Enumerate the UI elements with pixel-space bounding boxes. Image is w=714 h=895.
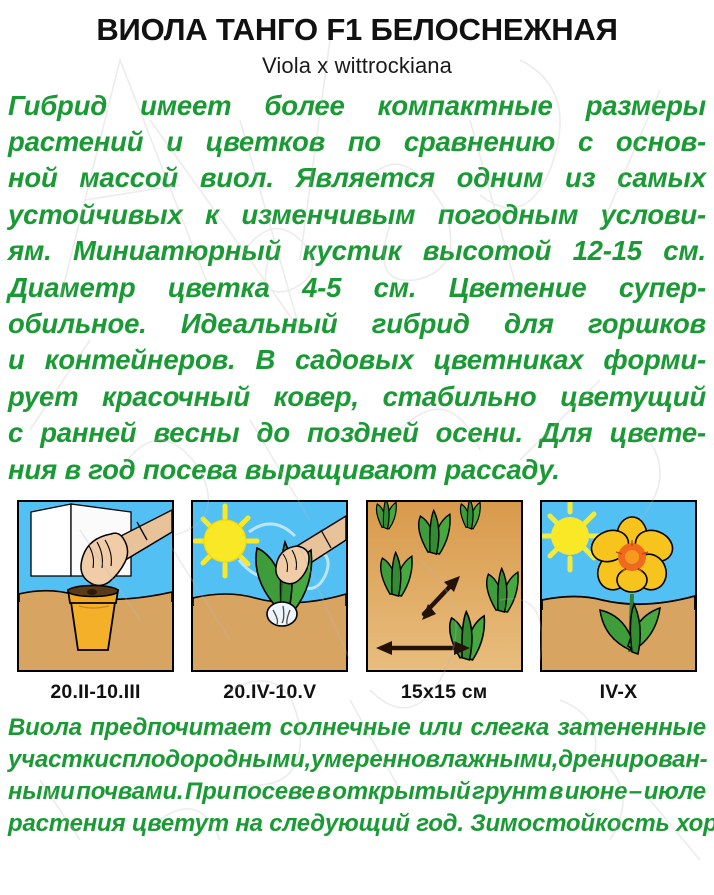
caption-spacer (174, 681, 191, 704)
panel-plant-spacing (366, 500, 523, 672)
caption-spacer (348, 681, 365, 704)
bottom-line: растения цветут на следующий год. Зимост… (8, 808, 706, 840)
caption-sowing: 20.II-10.III (17, 681, 174, 704)
description-line: ям.Миниатюрныйкустиквысотой12-15см. (8, 233, 706, 269)
description-line: обильное.Идеальныйгибриддлягоршков (8, 306, 706, 342)
description-line: устойчивыхкизменчивымпогоднымуслови- (8, 197, 706, 233)
description-line: ноймассойвиол.Являетсяоднимизсамых (8, 160, 706, 196)
panel-captions: 20.II-10.III 20.IV-10.V 15x15 см IV-X (0, 681, 714, 704)
description-line: Гибридимеетболеекомпактныеразмеры (8, 88, 706, 124)
description-line: руеткрасочныйковер,стабильноцветущий (8, 379, 706, 415)
panel-flowering-period (540, 500, 697, 672)
bottom-line: Виолапредпочитаетсолнечныеилислегказатен… (8, 712, 706, 744)
caption-flowering: IV-X (540, 681, 697, 704)
page-title: ВИОЛА ТАНГО F1 БЕЛОСНЕЖНАЯ (0, 14, 714, 47)
description-line: ния в год посева выращивают рассаду. (8, 452, 706, 488)
bottom-line: нымипочвами.Припосевевоткрытыйгрунтвиюне… (8, 776, 706, 808)
header: ВИОЛА ТАНГО F1 БЕЛОСНЕЖНАЯ Viola x wittr… (0, 0, 714, 79)
instruction-panels (0, 500, 714, 672)
description-line: Диаметрцветка4-5см.Цветениесупер- (8, 270, 706, 306)
description-line: сраннейвесныдопозднейосени.Дляцвете- (8, 415, 706, 451)
growing-conditions-text: Виолапредпочитаетсолнечныеилислегказатен… (8, 712, 706, 840)
panel-sowing-in-pot (17, 500, 174, 672)
bottom-line: участкисплодородными,умеренновлажными,др… (8, 744, 706, 776)
seed-packet: ВИОЛА ТАНГО F1 БЕЛОСНЕЖНАЯ Viola x wittr… (0, 0, 714, 895)
latin-name: Viola x wittrockiana (0, 53, 714, 79)
description-line: иконтейнеров.Всадовыхцветникахформи- (8, 342, 706, 378)
caption-spacing: 15x15 см (366, 681, 523, 704)
caption-transplanting: 20.IV-10.V (191, 681, 348, 704)
description-line: растенийицветковпосравнениюсоснов- (8, 124, 706, 160)
caption-spacer (523, 681, 540, 704)
panel-transplanting-seedling (191, 500, 348, 672)
description-text: Гибридимеетболеекомпактныеразмеры растен… (8, 88, 706, 488)
